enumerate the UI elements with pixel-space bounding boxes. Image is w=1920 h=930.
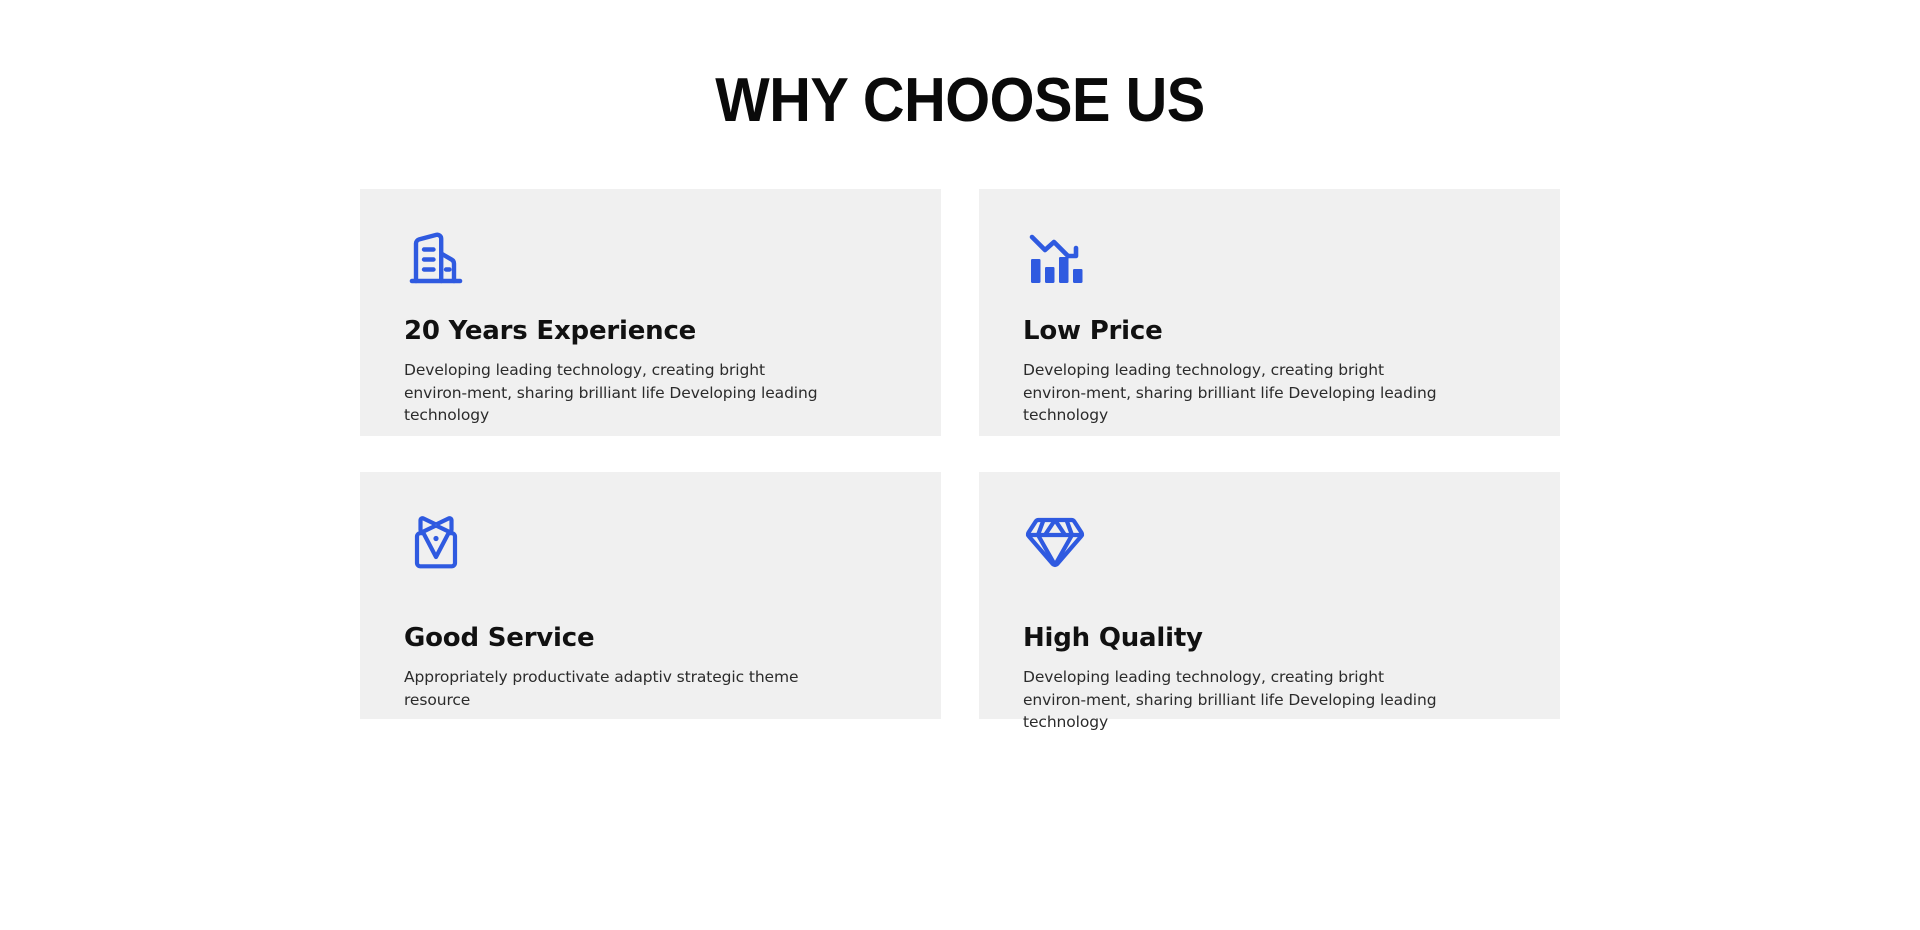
- card-title: 20 Years Experience: [404, 315, 897, 347]
- feature-card-20-years-experience[interactable]: 20 Years Experience Developing leading t…: [360, 189, 941, 436]
- feature-card-high-quality[interactable]: High Quality Developing leading technolo…: [979, 472, 1560, 719]
- feature-card-good-service[interactable]: Good Service Appropriately productivate …: [360, 472, 941, 719]
- feature-card-grid: 20 Years Experience Developing leading t…: [360, 189, 1560, 719]
- card-title: Low Price: [1023, 315, 1516, 347]
- card-description: Developing leading technology, creating …: [1023, 666, 1443, 734]
- card-description: Developing leading technology, creating …: [1023, 359, 1443, 427]
- why-choose-us-section: WHY CHOOSE US 20 Years Experience Develo…: [0, 0, 1920, 930]
- card-title: Good Service: [404, 622, 897, 654]
- page-title: WHY CHOOSE US: [67, 62, 1853, 140]
- card-title: High Quality: [1023, 622, 1516, 654]
- diamond-icon: [1023, 510, 1087, 574]
- card-description: Developing leading technology, creating …: [404, 359, 824, 427]
- bow-tie-suit-icon: [404, 510, 468, 574]
- declining-bar-chart-icon: [1023, 227, 1087, 291]
- feature-card-low-price[interactable]: Low Price Developing leading technology,…: [979, 189, 1560, 436]
- office-building-icon: [404, 227, 468, 291]
- card-description: Appropriately productivate adaptiv strat…: [404, 666, 824, 711]
